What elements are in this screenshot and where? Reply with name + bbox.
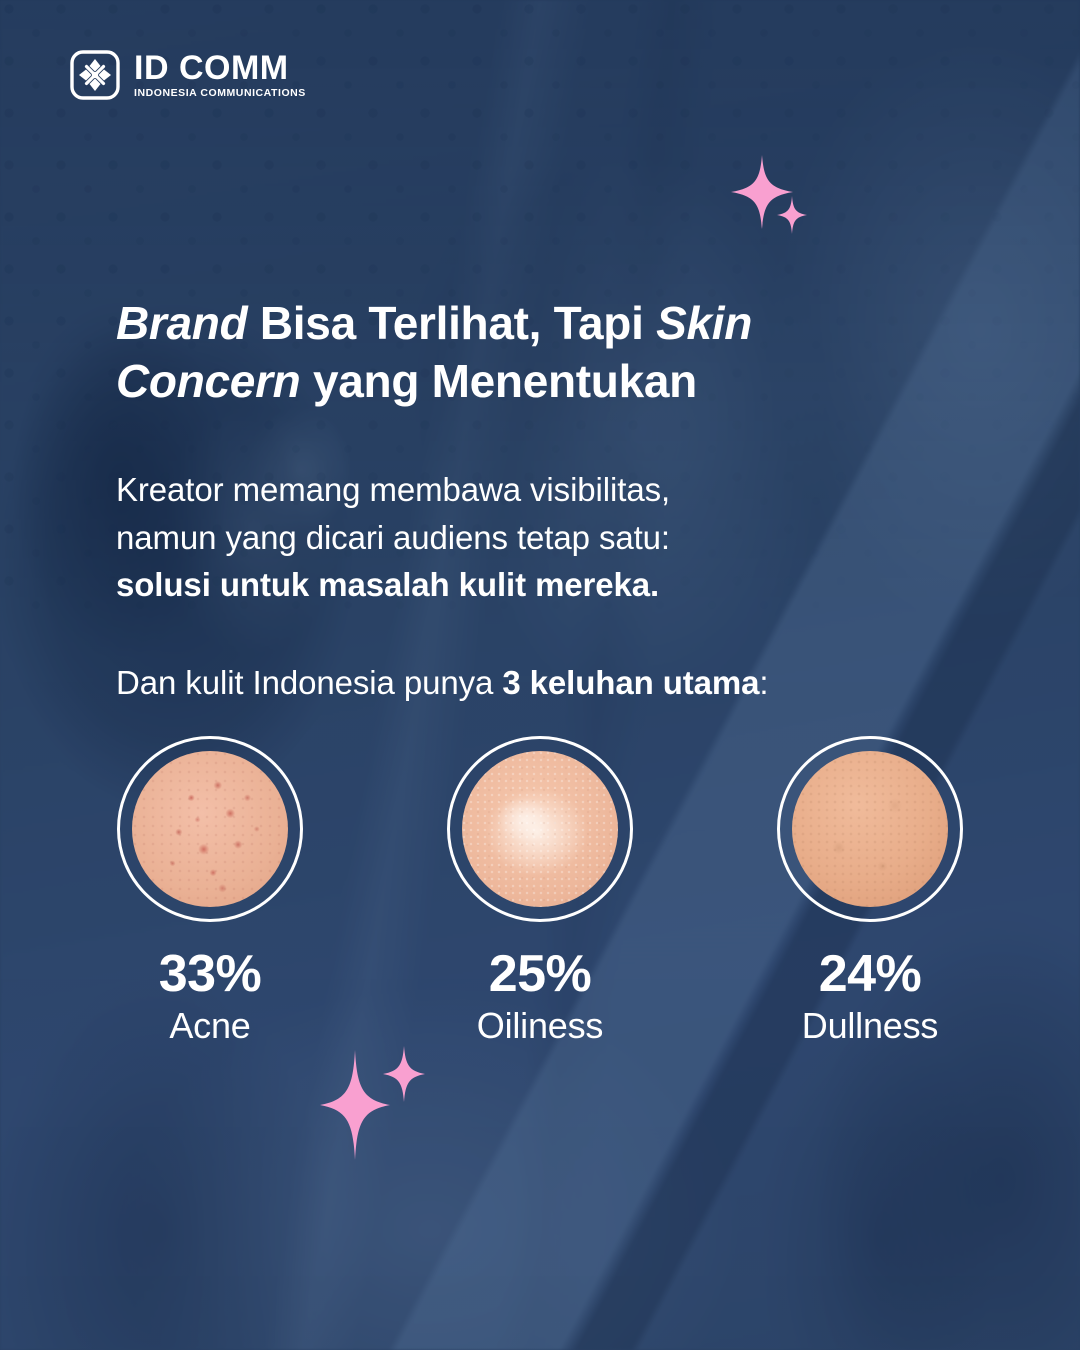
body-line-1: Kreator memang membawa visibilitas, [116,471,670,508]
brand-tagline: INDONESIA COMMUNICATIONS [134,87,306,100]
stat-label-acne: Acne [169,1008,250,1044]
headline-part-4: yang Menentukan [300,355,697,407]
id-comm-monogram-icon [70,50,120,100]
body-line-3-emphasis: solusi untuk masalah kulit mereka. [116,566,659,603]
headline: Brand Bisa Terlihat, Tapi Skin Concern y… [116,295,946,411]
stat-item-oiliness: 25% Oiliness [390,736,690,1044]
oily-skin-closeup [462,751,618,907]
stat-ring-dullness [777,736,963,922]
stat-ring-acne [117,736,303,922]
stat-percent-dullness: 24% [819,948,922,1000]
lead-in-emphasis: 3 keluhan utama [502,664,759,701]
headline-word-brand: Brand [116,297,247,349]
body-line-2: namun yang dicari audiens tetap satu: [116,519,670,556]
brand-title: ID COMM [134,51,306,86]
stat-ring-oiliness [447,736,633,922]
skin-concern-stats: 33% Acne 25% Oiliness 24% Dullness [0,736,1080,1036]
lead-in-suffix: : [759,664,768,701]
sparkle-bottom-large-icon [320,1050,390,1165]
dull-skin-closeup [792,751,948,907]
acne-skin-closeup [132,751,288,907]
sparkle-top-small-icon [777,196,807,239]
stat-label-oiliness: Oiliness [477,1008,603,1044]
stat-percent-acne: 33% [159,948,262,1000]
stat-item-acne: 33% Acne [60,736,360,1044]
lead-in-prefix: Dan kulit Indonesia punya [116,664,502,701]
infographic-poster: ID COMM INDONESIA COMMUNICATIONS Brand B… [0,0,1080,1350]
body-copy: Kreator memang membawa visibilitas,namun… [116,466,916,609]
stat-item-dullness: 24% Dullness [720,736,1020,1044]
brand-logo: ID COMM INDONESIA COMMUNICATIONS [70,50,306,100]
stat-label-dullness: Dullness [802,1008,938,1044]
sparkle-bottom-small-icon [383,1046,425,1107]
stat-percent-oiliness: 25% [489,948,592,1000]
lead-in-text: Dan kulit Indonesia punya 3 keluhan utam… [116,662,996,705]
headline-part-2: Bisa Terlihat, Tapi [247,297,656,349]
brand-logo-text: ID COMM INDONESIA COMMUNICATIONS [134,51,306,99]
